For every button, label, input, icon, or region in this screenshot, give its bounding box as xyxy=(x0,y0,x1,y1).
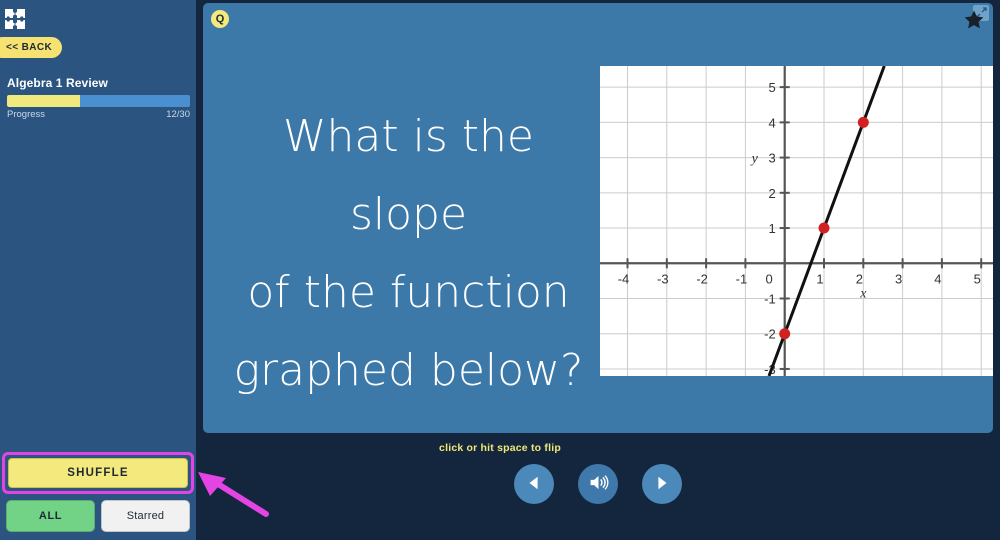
filter-all-button[interactable]: ALL xyxy=(6,500,95,532)
question-line: graphed below? xyxy=(221,332,596,410)
triangle-left-icon xyxy=(525,474,543,495)
prev-card-button[interactable] xyxy=(514,464,554,504)
filter-row: ALL Starred xyxy=(6,500,190,532)
question-text: What is the slope of the function graphe… xyxy=(221,98,596,410)
triangle-right-icon xyxy=(653,474,671,495)
sidebar: << BACK Algebra 1 Review Progress 12/30 … xyxy=(0,0,196,540)
svg-text:-1: -1 xyxy=(764,292,776,307)
filter-starred-button[interactable]: Starred xyxy=(101,500,190,532)
progress-bar xyxy=(7,95,190,107)
question-line: of the function xyxy=(221,254,596,332)
svg-text:2: 2 xyxy=(856,271,863,286)
svg-text:3: 3 xyxy=(768,151,775,166)
back-button[interactable]: << BACK xyxy=(0,37,62,58)
flashcard[interactable]: Q What is the slope of the function grap… xyxy=(203,3,993,433)
audio-button[interactable] xyxy=(578,464,618,504)
svg-text:4: 4 xyxy=(768,115,775,130)
svg-text:x: x xyxy=(859,286,867,301)
svg-text:3: 3 xyxy=(895,271,902,286)
puzzle-icon[interactable] xyxy=(4,8,26,30)
svg-text:0: 0 xyxy=(765,271,772,286)
shuffle-highlight: SHUFFLE xyxy=(2,452,194,494)
flashcard-app: << BACK Algebra 1 Review Progress 12/30 … xyxy=(0,0,1000,540)
svg-text:5: 5 xyxy=(974,271,981,286)
progress-count: 12/30 xyxy=(166,109,190,120)
svg-text:y: y xyxy=(750,152,759,167)
shuffle-button[interactable]: SHUFFLE xyxy=(8,458,188,488)
speaker-icon xyxy=(588,472,609,496)
deck-title: Algebra 1 Review xyxy=(7,76,108,90)
svg-text:-2: -2 xyxy=(696,271,708,286)
question-side-badge[interactable]: Q xyxy=(211,10,229,28)
flip-hint: click or hit space to flip xyxy=(0,442,1000,454)
back-button-label: << BACK xyxy=(6,42,52,53)
star-icon[interactable] xyxy=(963,9,985,31)
graph-image: -4-3-2-1012345-3-2-112345xy xyxy=(600,66,993,376)
svg-text:1: 1 xyxy=(768,221,775,236)
svg-text:-4: -4 xyxy=(618,271,630,286)
svg-text:2: 2 xyxy=(768,186,775,201)
next-card-button[interactable] xyxy=(642,464,682,504)
svg-text:-2: -2 xyxy=(764,327,776,342)
svg-text:1: 1 xyxy=(816,271,823,286)
svg-text:-1: -1 xyxy=(736,271,748,286)
progress-label: Progress xyxy=(7,109,45,120)
progress-bar-fill xyxy=(7,95,80,107)
question-line: What is the slope xyxy=(221,98,596,254)
card-controls xyxy=(203,463,993,505)
svg-text:-3: -3 xyxy=(657,271,669,286)
coordinate-plane: -4-3-2-1012345-3-2-112345xy xyxy=(600,66,993,376)
svg-text:4: 4 xyxy=(934,271,941,286)
svg-text:5: 5 xyxy=(768,80,775,95)
